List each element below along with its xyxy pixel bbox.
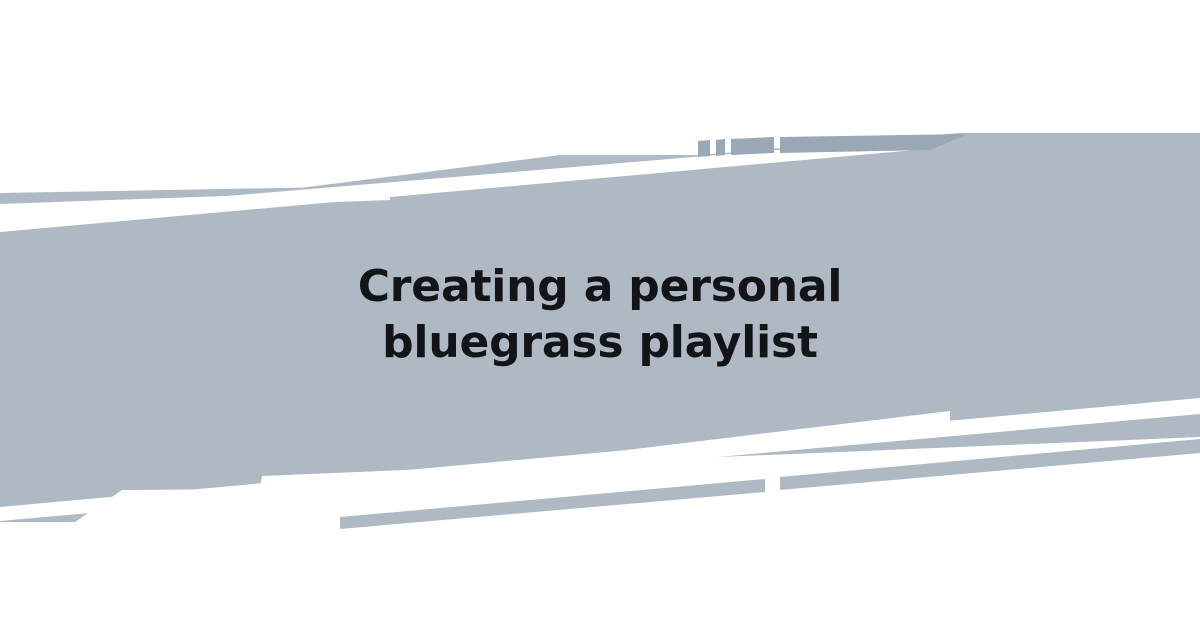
dash-square-1-icon [698,140,710,157]
decorative-banner-graphic [0,0,1200,630]
dash-square-2-icon [716,139,725,156]
dash-bar-medium-icon [731,137,774,155]
header-card: Creating a personal bluegrass playlist [0,0,1200,630]
